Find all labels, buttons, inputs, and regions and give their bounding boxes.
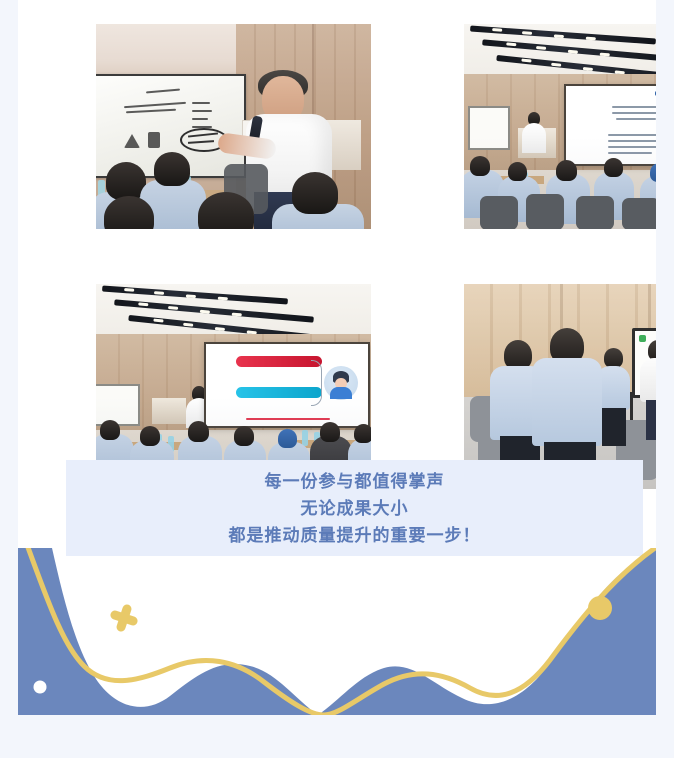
- caption-line-3: 都是推动质量提升的重要一步！: [229, 527, 481, 544]
- slide-title-bar: [655, 91, 656, 96]
- wave-shape-main: [18, 548, 656, 715]
- blue-cap: [650, 163, 656, 182]
- article-card: 每一份参与都值得掌声 无论成果大小 都是推动质量提升的重要一步！: [18, 0, 656, 715]
- caption-line-1: 每一份参与都值得掌声: [265, 473, 445, 490]
- blue-cap: [278, 429, 297, 448]
- photo-classroom-projector[interactable]: [464, 24, 656, 229]
- photo-group-whiteboard-discussion[interactable]: [464, 284, 656, 489]
- wave-footer: [18, 548, 656, 715]
- photo-row: [56, 8, 618, 245]
- photo-presenter-whiteboard[interactable]: [96, 24, 371, 229]
- slide-red-bar: [236, 356, 322, 367]
- sparkle-cross-icon: [106, 600, 141, 635]
- training-photo-gallery: [56, 8, 618, 505]
- caption-panel: 每一份参与都值得掌声 无论成果大小 都是推动质量提升的重要一步！: [66, 460, 643, 556]
- slide-character-illustration: [324, 366, 358, 400]
- yellow-dot-icon: [588, 596, 612, 620]
- white-dot-icon: [34, 681, 47, 694]
- caption-line-2: 无论成果大小: [301, 500, 409, 517]
- photo-lecture-slide[interactable]: [96, 284, 371, 489]
